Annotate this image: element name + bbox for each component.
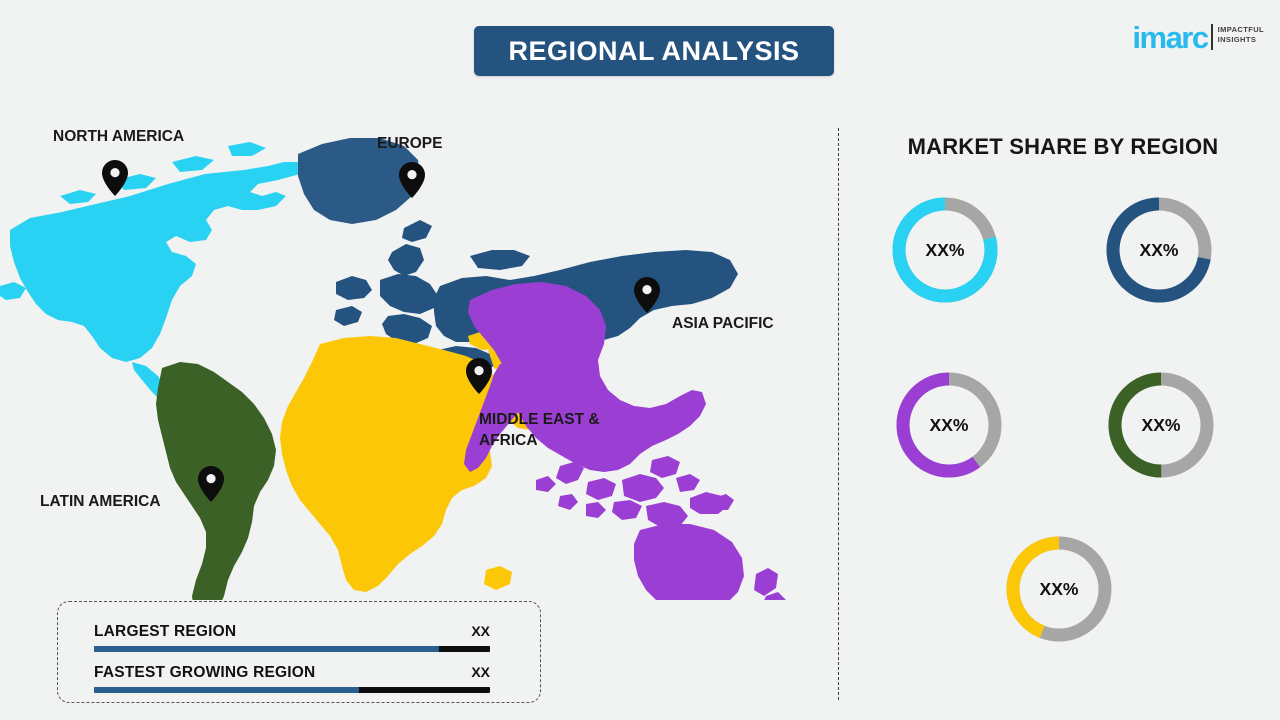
panel-title-market-share: MARKET SHARE BY REGION bbox=[888, 134, 1238, 160]
map-pin-icon-europe[interactable] bbox=[399, 162, 425, 198]
logo-wordmark: imarc bbox=[1132, 22, 1207, 53]
map-label-north-america: NORTH AMERICA bbox=[53, 126, 184, 147]
panel-divider bbox=[838, 128, 839, 700]
legend-label-largest-region: LARGEST REGION bbox=[94, 623, 236, 641]
brand-logo: imarc IMPACTFUL INSIGHTS bbox=[1132, 22, 1264, 53]
donut-value-latin-america: XX% bbox=[1105, 369, 1217, 481]
legend-value-fastest-growing-region: XX bbox=[471, 664, 490, 680]
donut-chart-asia-pacific: XX% bbox=[893, 369, 1005, 481]
legend-row-largest-region: LARGEST REGION XX bbox=[94, 623, 490, 652]
logo-divider-icon bbox=[1211, 24, 1213, 50]
donut-value-europe: XX% bbox=[1103, 194, 1215, 306]
legend-progress-fill-fastest-growing-region bbox=[94, 687, 359, 693]
legend-progress-fill-largest-region bbox=[94, 646, 439, 652]
map-label-europe: EUROPE bbox=[377, 133, 442, 154]
logo-word-text: imarc bbox=[1132, 22, 1207, 53]
page-title: REGIONAL ANALYSIS bbox=[508, 36, 799, 67]
legend-row-fastest-growing-region: FASTEST GROWING REGION XX bbox=[94, 664, 490, 693]
donut-chart-latin-america: XX% bbox=[1105, 369, 1217, 481]
logo-tagline-line1: IMPACTFUL bbox=[1218, 25, 1264, 35]
infographic-canvas: REGIONAL ANALYSIS imarc IMPACTFUL INSIGH… bbox=[0, 0, 1280, 720]
legend-label-fastest-growing-region: FASTEST GROWING REGION bbox=[94, 664, 315, 682]
legend-progress-track-fastest-growing-region bbox=[94, 687, 490, 693]
page-title-badge: REGIONAL ANALYSIS bbox=[474, 26, 834, 76]
region-legend-box: LARGEST REGION XX FASTEST GROWING REGION… bbox=[57, 601, 541, 703]
map-label-asia-pacific: ASIA PACIFIC bbox=[672, 313, 774, 334]
donut-chart-europe: XX% bbox=[1103, 194, 1215, 306]
map-region-north-america bbox=[0, 142, 312, 448]
logo-tagline: IMPACTFUL INSIGHTS bbox=[1218, 22, 1264, 45]
map-pin-icon-middle-east-africa[interactable] bbox=[466, 358, 492, 394]
map-label-middle-east-africa: MIDDLE EAST & AFRICA bbox=[479, 409, 639, 451]
donut-value-asia-pacific: XX% bbox=[893, 369, 1005, 481]
legend-value-largest-region: XX bbox=[471, 623, 490, 639]
donut-value-north-america: XX% bbox=[889, 194, 1001, 306]
donut-chart-middle-east-africa: XX% bbox=[1003, 533, 1115, 645]
map-label-latin-america: LATIN AMERICA bbox=[40, 491, 161, 512]
map-pin-icon-north-america[interactable] bbox=[102, 160, 128, 196]
donut-chart-north-america: XX% bbox=[889, 194, 1001, 306]
map-pin-icon-asia-pacific[interactable] bbox=[634, 277, 660, 313]
map-region-antarctica-strip bbox=[0, 598, 820, 600]
donut-value-middle-east-africa: XX% bbox=[1003, 533, 1115, 645]
map-pin-icon-latin-america[interactable] bbox=[198, 466, 224, 502]
logo-tagline-line2: INSIGHTS bbox=[1218, 35, 1264, 45]
legend-progress-track-largest-region bbox=[94, 646, 490, 652]
